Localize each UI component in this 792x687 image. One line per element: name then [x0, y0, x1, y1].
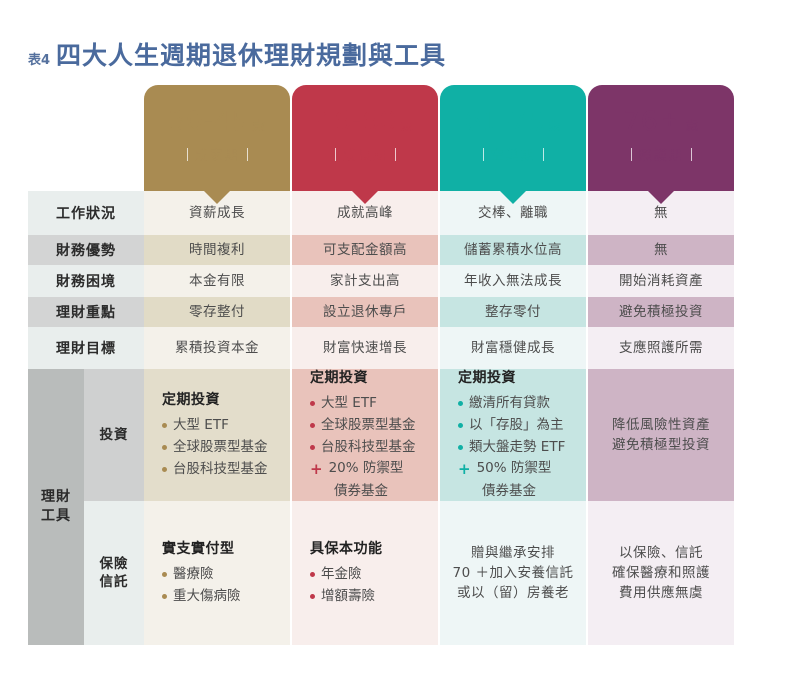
list-heading: 定期投資: [162, 389, 290, 412]
list-item: 醫療險: [162, 564, 290, 586]
bullet-dot-icon: [310, 572, 315, 577]
list-item-continuation: 債券基金: [310, 481, 438, 503]
list-item-plus: + 50% 防禦型: [458, 458, 586, 481]
list-heading: 具保本功能: [310, 538, 438, 561]
cell-line: 降低風險性資產: [612, 415, 710, 435]
header-notch-icon: [352, 191, 378, 204]
phase-divider-right: [543, 148, 544, 161]
age-range-label: 61-75 歲: [464, 108, 561, 135]
title-text: 四大人生週期退休理財規劃與工具: [56, 36, 446, 72]
list-item: 台股科技型基金: [162, 459, 290, 481]
bullet-dot-icon: [458, 401, 463, 406]
column-header-30-45: 30-45 歲 成家期: [144, 85, 290, 191]
cell-planning-focus-col3: 整存零付: [440, 297, 586, 327]
bullet-dot-icon: [162, 467, 167, 472]
list-item: 增額壽險: [310, 586, 438, 608]
list-item: 繳清所有貸款: [458, 393, 586, 415]
tools-label-line1: 理財: [41, 488, 71, 507]
row-label-work-status: 工作狀況: [28, 191, 144, 235]
phase-divider-right: [691, 148, 692, 161]
plus-icon: +: [310, 458, 323, 481]
list-item: 全球股票型基金: [310, 415, 438, 437]
row-label-planning-focus: 理財重點: [28, 297, 144, 327]
cell-insurance-col3: 贈與繼承安排 70 ＋加入安養信託 或以（留）房養老: [440, 501, 586, 645]
page-title: 表4 四大人生週期退休理財規劃與工具: [28, 36, 446, 72]
list-item: 以「存股」為主: [458, 415, 586, 437]
cell-line: 確保醫療和照護: [612, 563, 710, 583]
table-number: 表4: [28, 49, 50, 68]
phase-divider-left: [335, 148, 336, 161]
cell-line: 費用供應無虞: [619, 583, 703, 603]
sub-label-line1: 保險: [100, 555, 129, 573]
list-item: 大型 ETF: [310, 393, 438, 415]
list-item: 台股科技型基金: [310, 437, 438, 459]
phase-label: 成長期: [335, 144, 396, 164]
cell-planning-goal-col2: 財富快速增長: [292, 327, 438, 369]
phase-label: 照護期: [631, 144, 692, 164]
cell-insurance-col4: 以保險、信託 確保醫療和照護 費用供應無虞: [588, 501, 734, 645]
list-item: 年金險: [310, 564, 438, 586]
cell-line: 70 ＋加入安養信託: [453, 563, 574, 583]
cell-investment-col2: 定期投資 大型 ETF 全球股票型基金 台股科技型基金 + 20% 防禦型 債券…: [292, 369, 438, 501]
phase-label: 成家期: [187, 144, 248, 164]
cell-investment-col4: 降低風險性資產 避免積極型投資: [588, 369, 734, 501]
bullet-dot-icon: [310, 401, 315, 406]
bullet-dot-icon: [162, 572, 167, 577]
plus-icon: +: [661, 109, 678, 129]
bullet-dot-icon: [310, 445, 315, 450]
row-label-financial-advantage: 財務優勢: [28, 235, 144, 265]
row-label-financial-tools: 理財 工具: [28, 369, 84, 645]
cell-financial-advantage-col3: 儲蓄累積水位高: [440, 235, 586, 265]
cell-line: 或以（留）房養老: [457, 583, 569, 603]
cell-financial-difficulty-col2: 家計支出高: [292, 265, 438, 297]
bullet-dot-icon: [162, 445, 167, 450]
lifecycle-table: 30-45 歲 成家期 46-60 歲 成長期: [28, 85, 764, 647]
column-header-61-75: 61-75 歲 空巢期: [440, 85, 586, 191]
header-corner-spacer: [28, 85, 144, 191]
age-range-label: 76 + 歲: [623, 108, 699, 135]
sub-label-investment: 投資: [84, 369, 144, 501]
header-notch-icon: [500, 191, 526, 204]
cell-insurance-col2: 具保本功能 年金險 增額壽險: [292, 501, 438, 645]
bullet-dot-icon: [162, 594, 167, 599]
bullet-dot-icon: [310, 594, 315, 599]
column-header-46-60: 46-60 歲 成長期: [292, 85, 438, 191]
cell-financial-difficulty-col3: 年收入無法成長: [440, 265, 586, 297]
sub-label-insurance-trust: 保險 信託: [84, 501, 144, 645]
cell-financial-advantage-col1: 時間複利: [144, 235, 290, 265]
cell-financial-advantage-col2: 可支配金額高: [292, 235, 438, 265]
list-item: 大型 ETF: [162, 415, 290, 437]
bullet-dot-icon: [162, 423, 167, 428]
row-label-financial-difficulty: 財務困境: [28, 265, 144, 297]
cell-financial-difficulty-col4: 開始消耗資產: [588, 265, 734, 297]
cell-investment-col3: 定期投資 繳清所有貸款 以「存股」為主 類大盤走勢 ETF + 50% 防禦型 …: [440, 369, 586, 501]
list-item-continuation: 債券基金: [458, 481, 586, 503]
cell-line: 以保險、信託: [619, 543, 703, 563]
cell-line: 贈與繼承安排: [471, 543, 555, 563]
phase-divider-left: [483, 148, 484, 161]
cell-planning-focus-col2: 設立退休專戶: [292, 297, 438, 327]
list-item-plus: + 20% 防禦型: [310, 458, 438, 481]
list-heading: 實支實付型: [162, 538, 290, 561]
cell-investment-col1: 定期投資 大型 ETF 全球股票型基金 台股科技型基金: [144, 369, 290, 501]
cell-planning-goal-col1: 累積投資本金: [144, 327, 290, 369]
cell-financial-difficulty-col1: 本金有限: [144, 265, 290, 297]
age-range-label: 30-45 歲: [168, 108, 265, 135]
bullet-dot-icon: [458, 445, 463, 450]
phase-divider-left: [187, 148, 188, 161]
phase-divider-right: [395, 148, 396, 161]
tools-label-line2: 工具: [41, 507, 71, 526]
cell-line: 避免積極型投資: [612, 435, 710, 455]
list-item: 類大盤走勢 ETF: [458, 437, 586, 459]
header-notch-icon: [204, 191, 230, 204]
cell-planning-goal-col3: 財富穩健成長: [440, 327, 586, 369]
list-heading: 定期投資: [458, 367, 586, 390]
phase-divider-right: [247, 148, 248, 161]
list-heading: 定期投資: [310, 367, 438, 390]
list-item: 重大傷病險: [162, 586, 290, 608]
cell-planning-goal-col4: 支應照護所需: [588, 327, 734, 369]
bullet-dot-icon: [458, 423, 463, 428]
phase-label: 空巢期: [483, 144, 544, 164]
row-label-planning-goal: 理財目標: [28, 327, 144, 369]
cell-planning-focus-col1: 零存整付: [144, 297, 290, 327]
plus-icon: +: [458, 458, 471, 481]
cell-insurance-col1: 實支實付型 醫療險 重大傷病險: [144, 501, 290, 645]
list-item: 全球股票型基金: [162, 437, 290, 459]
cell-planning-focus-col4: 避免積極投資: [588, 297, 734, 327]
infographic-table-page: 表4 四大人生週期退休理財規劃與工具 30-45 歲 成家期 46-60 歲: [0, 0, 792, 687]
age-range-label: 46-60 歲: [316, 108, 413, 135]
header-notch-icon: [648, 191, 674, 204]
cell-financial-advantage-col4: 無: [588, 235, 734, 265]
bullet-dot-icon: [310, 423, 315, 428]
sub-label-line2: 信託: [100, 573, 129, 591]
column-header-76-plus: 76 + 歲 照護期: [588, 85, 734, 191]
phase-divider-left: [631, 148, 632, 161]
